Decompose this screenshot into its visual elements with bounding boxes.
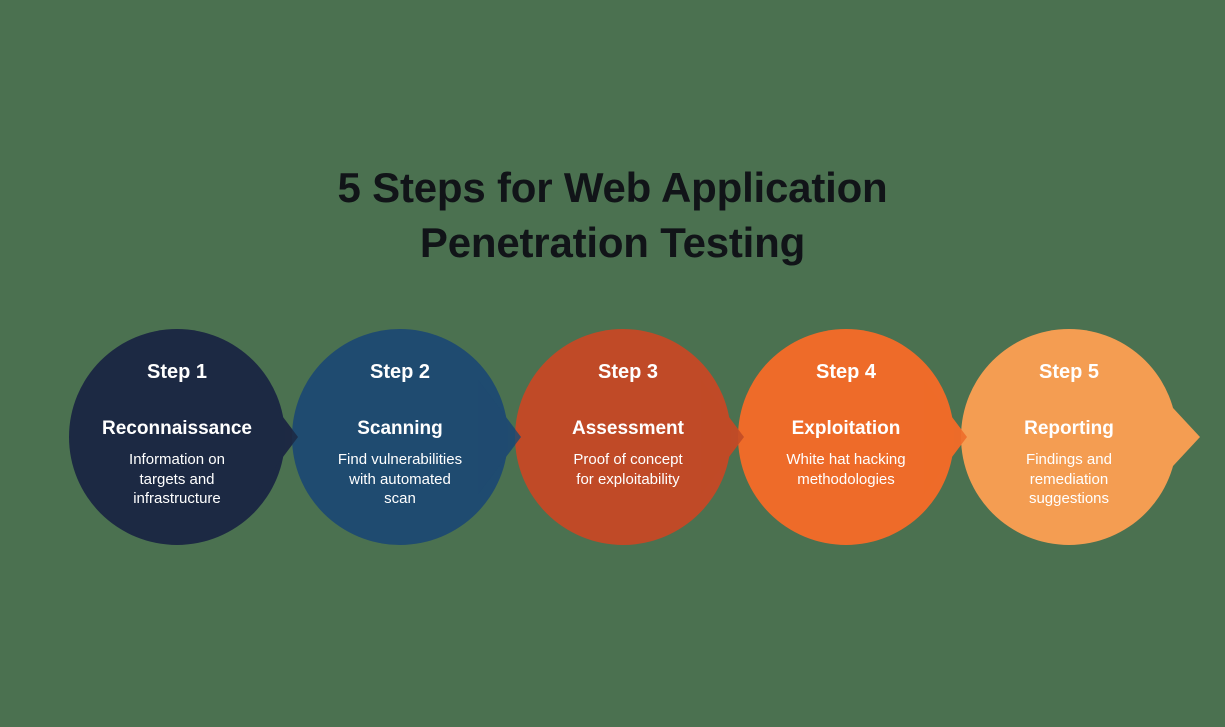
step-4-title: Exploitation [746, 418, 946, 441]
step-5-title: Reporting [969, 418, 1169, 441]
step-item-1[interactable]: Step 1 Reconnaissance Information on tar… [77, 360, 277, 509]
step-item-2[interactable]: Step 2 Scanning Find vulnerabilities wit… [300, 360, 500, 509]
step-2-title: Scanning [300, 418, 500, 441]
step-item-3[interactable]: Step 3 Assessment Proof of concept for e… [528, 360, 728, 489]
step-5-description: Findings and remediation suggestions [969, 450, 1169, 509]
step-3-label: Step 3 [528, 360, 728, 384]
infographic-canvas: 5 Steps for Web Application Penetration … [0, 0, 1225, 727]
step-4-description: White hat hacking methodologies [746, 450, 946, 490]
step-2-label: Step 2 [300, 360, 500, 384]
step-item-5[interactable]: Step 5 Reporting Findings and remediatio… [969, 360, 1169, 509]
process-flow-diagram: Step 1 Reconnaissance Information on tar… [0, 0, 1225, 727]
step-item-4[interactable]: Step 4 Exploitation White hat hacking me… [746, 360, 946, 489]
step-1-label: Step 1 [77, 360, 277, 384]
step-1-description: Information on targets and infrastructur… [77, 450, 277, 509]
step-2-description: Find vulnerabilities with automated scan [300, 450, 500, 509]
step-5-label: Step 5 [969, 360, 1169, 384]
step-1-title: Reconnaissance [77, 418, 277, 441]
step-4-label: Step 4 [746, 360, 946, 384]
step-3-title: Assessment [528, 418, 728, 441]
step-3-description: Proof of concept for exploitability [528, 450, 728, 490]
